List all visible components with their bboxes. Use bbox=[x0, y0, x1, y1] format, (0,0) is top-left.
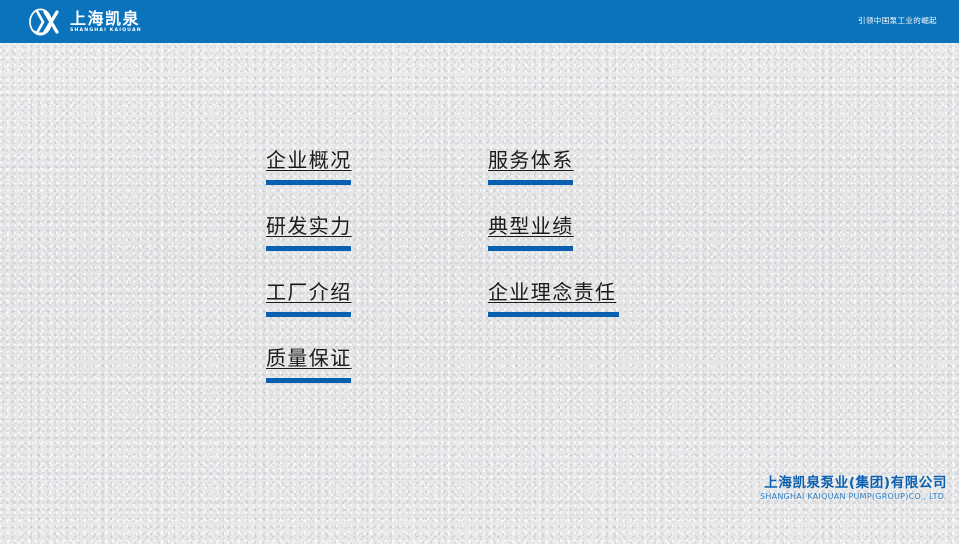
menu-item-factory-introduction[interactable]: 工厂介绍 bbox=[266, 277, 352, 317]
menu-item-label: 研发实力 bbox=[266, 211, 352, 241]
footer-company-name-cn: 上海凯泉泵业(集团)有限公司 bbox=[760, 475, 947, 491]
menu-item-underline bbox=[266, 378, 351, 383]
footer-company-signature: 上海凯泉泵业(集团)有限公司 SHANGHAI KAIQUAN PUMP(GRO… bbox=[760, 475, 947, 502]
slide-canvas: 上海凯泉 SHANGHAI KAIQUAN 引领中国泵工业的崛起 企业概况 研发… bbox=[0, 0, 959, 544]
menu-item-underline bbox=[266, 180, 351, 185]
company-logo[interactable]: 上海凯泉 SHANGHAI KAIQUAN bbox=[26, 6, 140, 38]
menu-item-underline bbox=[488, 246, 573, 251]
menu-item-quality-assurance[interactable]: 质量保证 bbox=[266, 343, 352, 383]
menu-item-label: 企业理念责任 bbox=[488, 277, 619, 307]
menu-item-company-overview[interactable]: 企业概况 bbox=[266, 145, 352, 185]
header-tagline: 引领中国泵工业的崛起 bbox=[858, 15, 937, 26]
logo-name-cn: 上海凯泉 bbox=[70, 10, 140, 27]
logo-name-en: SHANGHAI KAIQUAN bbox=[70, 27, 142, 34]
menu-item-label: 服务体系 bbox=[488, 145, 619, 175]
kaiquan-monogram-icon bbox=[26, 7, 64, 37]
menu-item-service-system[interactable]: 服务体系 bbox=[488, 145, 619, 185]
menu-item-corporate-philosophy-responsibility[interactable]: 企业理念责任 bbox=[488, 277, 619, 317]
menu-item-label: 工厂介绍 bbox=[266, 277, 352, 307]
menu-item-label: 企业概况 bbox=[266, 145, 352, 175]
header-bar: 上海凯泉 SHANGHAI KAIQUAN 引领中国泵工业的崛起 bbox=[0, 0, 959, 43]
menu-item-label: 典型业绩 bbox=[488, 211, 619, 241]
menu-item-underline bbox=[488, 180, 573, 185]
menu-column-right: 服务体系 典型业绩 企业理念责任 bbox=[488, 145, 619, 343]
menu-item-label: 质量保证 bbox=[266, 343, 352, 373]
menu-item-typical-projects[interactable]: 典型业绩 bbox=[488, 211, 619, 251]
menu-item-underline bbox=[266, 312, 351, 317]
menu-column-left: 企业概况 研发实力 工厂介绍 质量保证 bbox=[266, 145, 352, 409]
menu-item-rd-strength[interactable]: 研发实力 bbox=[266, 211, 352, 251]
logo-wordmark: 上海凯泉 SHANGHAI KAIQUAN bbox=[70, 10, 140, 34]
footer-company-name-en: SHANGHAI KAIQUAN PUMP(GROUP)CO., LTD. bbox=[760, 491, 947, 502]
menu-item-underline bbox=[266, 246, 351, 251]
menu-item-underline bbox=[488, 312, 619, 317]
